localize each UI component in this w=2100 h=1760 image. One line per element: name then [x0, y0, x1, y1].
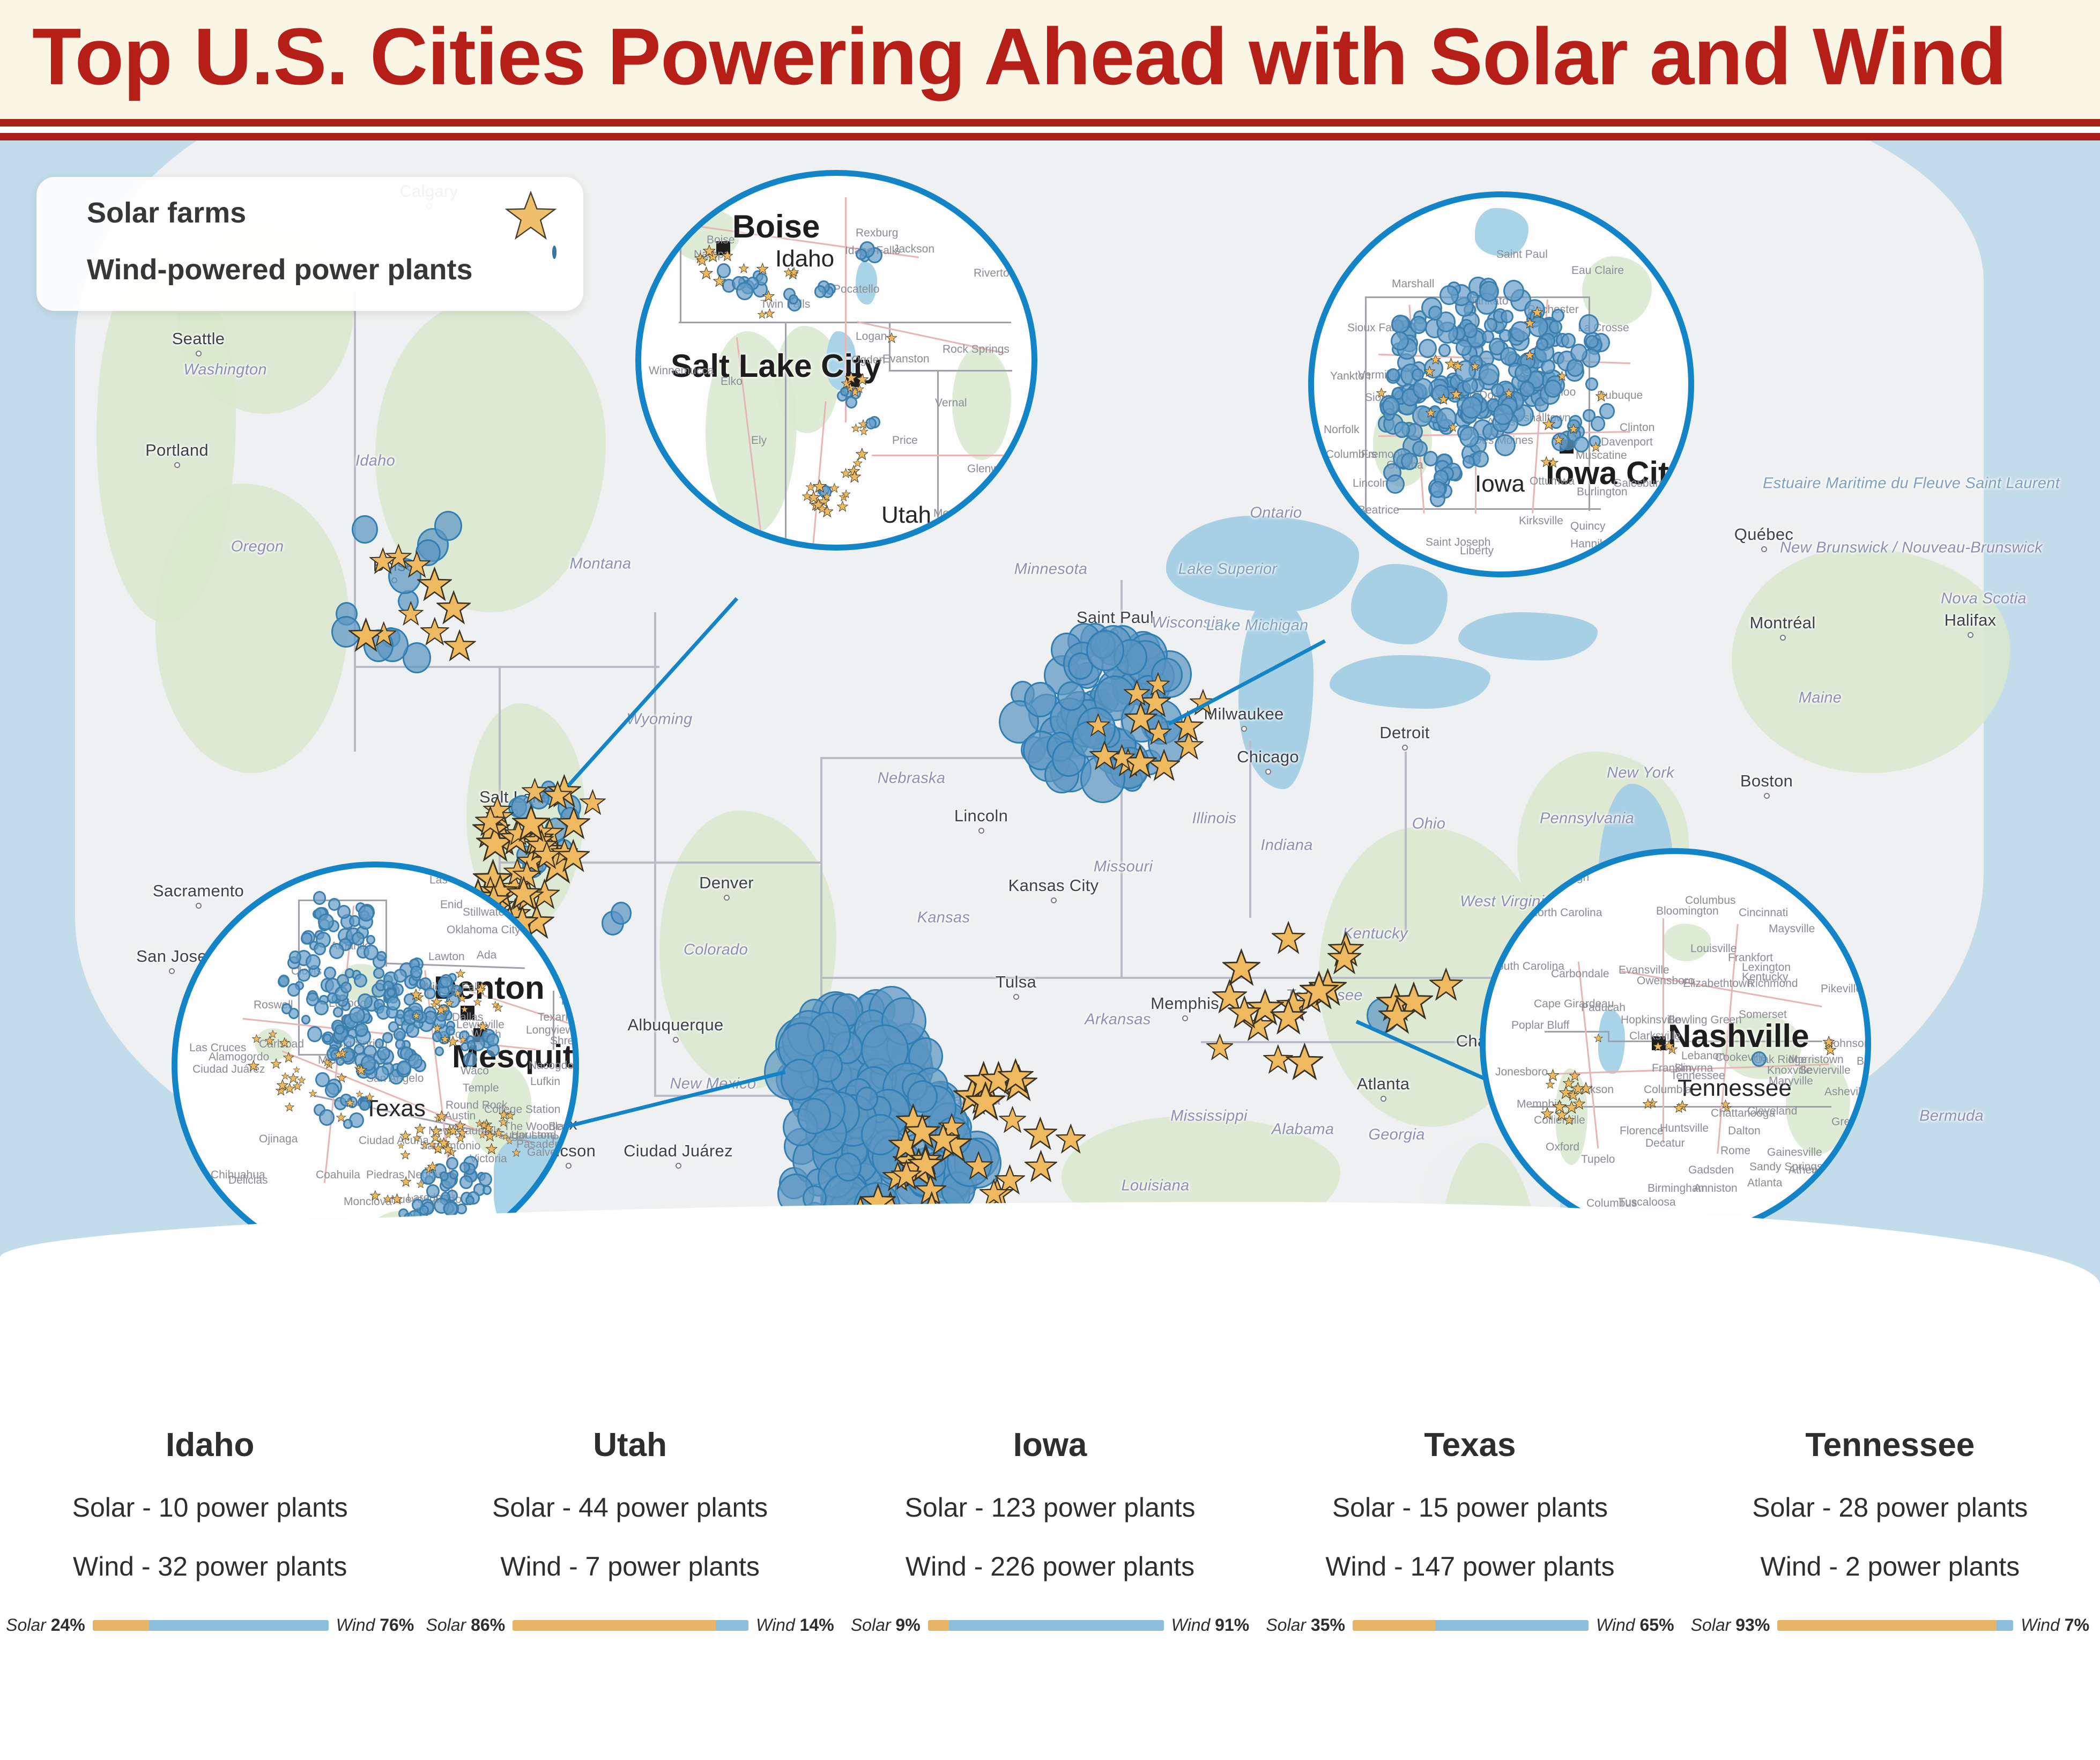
legend-label-wind: Wind-powered power plants	[87, 253, 473, 286]
solar-farm-marker	[1228, 996, 1261, 1029]
map-bottom-fade	[0, 1202, 2100, 1336]
wind-plant-marker	[845, 396, 857, 409]
solar-farm-marker	[1025, 1150, 1057, 1183]
circle-icon	[552, 248, 556, 257]
wind-plant-marker	[1410, 316, 1428, 334]
solar-farm-marker	[252, 1034, 261, 1043]
solar-farm-marker	[1424, 366, 1435, 377]
wind-plant-marker	[373, 968, 384, 979]
stat-share-bar-row: Solar 86%Wind 14%	[420, 1615, 840, 1635]
solar-farm-marker	[265, 1036, 274, 1045]
solar-farm-marker	[696, 255, 708, 266]
map-city-dot	[1968, 632, 1973, 638]
stat-wind-share-label: Wind 65%	[1596, 1615, 1674, 1635]
solar-farm-marker	[700, 266, 713, 280]
solar-farm-marker	[427, 1161, 438, 1172]
solar-farm-marker	[817, 503, 827, 514]
solar-farm-marker	[365, 1093, 374, 1102]
wind-plant-marker	[1495, 434, 1516, 456]
solar-farm-marker	[1546, 1080, 1555, 1089]
stat-column-texas: TexasSolar - 15 power plantsWind - 147 p…	[1260, 1372, 1680, 1673]
stat-share-bar-solar-segment	[513, 1620, 715, 1631]
solar-farm-marker	[557, 806, 590, 840]
map-label-city: Halifax	[1945, 611, 1997, 630]
solar-farm-marker	[398, 601, 424, 626]
map-label-city: Seattle	[172, 329, 225, 348]
solar-farm-marker	[837, 501, 848, 512]
wind-plant-marker	[319, 1109, 335, 1126]
solar-farm-marker	[298, 1076, 306, 1084]
map-label-city: Memphis	[1151, 994, 1219, 1013]
wind-plant-marker	[1544, 380, 1562, 398]
inset-marker-layer-idaho-utah	[641, 176, 1032, 545]
wind-plant-marker	[335, 1024, 344, 1035]
inset-map-idaho-utah[interactable]: Boise Idaho Salt Lake City Utah Boise Na…	[635, 170, 1037, 551]
stat-wind-line: Wind - 147 power plants	[1260, 1551, 1680, 1582]
solar-farm-marker	[1524, 317, 1535, 329]
map-city-dot	[1051, 897, 1057, 903]
map-label-state: Bermuda	[1919, 1108, 1984, 1125]
map-label-state: Arkansas	[1085, 1011, 1151, 1029]
solar-farm-marker	[369, 547, 396, 574]
wind-plant-marker	[325, 1082, 339, 1098]
map-city-dot	[1265, 769, 1271, 775]
wind-plant-marker	[1057, 681, 1085, 711]
map-label-state: Louisiana	[1122, 1177, 1190, 1195]
solar-farm-marker	[475, 984, 486, 995]
solar-farm-marker	[400, 1130, 411, 1141]
wind-plant-marker	[856, 249, 866, 260]
header-banner: Top U.S. Cities Powering Ahead with Sola…	[0, 0, 2100, 123]
wind-plant-marker	[440, 974, 452, 988]
stat-share-bar	[1777, 1620, 2013, 1631]
solar-farm-marker	[1222, 948, 1260, 986]
wind-plant-marker	[483, 1185, 492, 1195]
wind-plant-marker	[1430, 481, 1446, 498]
solar-farm-marker	[806, 482, 815, 492]
wind-plant-marker	[337, 905, 351, 919]
solar-farm-marker	[456, 969, 465, 978]
wind-plant-marker	[323, 1034, 331, 1043]
stat-share-bar-wind-segment	[716, 1620, 749, 1631]
solar-farm-marker	[848, 470, 861, 483]
stat-wind-line: Wind - 32 power plants	[0, 1551, 420, 1582]
wind-plant-marker	[1519, 381, 1534, 397]
map-city-dot	[1780, 635, 1786, 641]
wind-plant-marker	[352, 515, 378, 544]
map-label-state: Maine	[1799, 689, 1842, 707]
map-label-state: Kansas	[917, 909, 970, 927]
wind-plant-marker	[463, 1052, 477, 1067]
solar-farm-marker	[1429, 968, 1463, 1001]
solar-farm-marker	[479, 1120, 488, 1130]
solar-farm-marker	[433, 1143, 444, 1154]
stat-state-name: Idaho	[0, 1426, 420, 1464]
solar-farm-marker	[1553, 434, 1564, 445]
solar-farm-marker	[283, 1052, 294, 1063]
wind-plant-marker	[446, 1157, 458, 1170]
stat-column-iowa: IowaSolar - 123 power plantsWind - 226 p…	[840, 1372, 1260, 1673]
map-city-dot	[169, 968, 175, 974]
solar-farm-marker	[506, 1111, 515, 1120]
solar-farm-marker	[853, 458, 862, 467]
solar-farm-marker	[1653, 1041, 1663, 1051]
solar-farm-marker	[455, 1120, 466, 1131]
wind-plant-marker	[1570, 344, 1587, 362]
solar-farm-marker	[856, 373, 869, 385]
wind-plant-marker	[314, 1000, 329, 1015]
solar-farm-marker	[891, 1160, 922, 1190]
wind-plant-marker	[479, 1172, 492, 1186]
solar-farm-marker	[441, 1005, 449, 1012]
solar-farm-marker	[459, 1036, 467, 1044]
wind-plant-marker	[1583, 409, 1595, 422]
solar-farm-marker	[1270, 998, 1307, 1035]
wind-plant-marker	[814, 285, 826, 298]
map-label-city: Portland	[145, 441, 209, 460]
map-label-state: Illinois	[1192, 810, 1237, 828]
wind-plant-marker	[435, 1046, 444, 1056]
solar-farm-marker	[1541, 456, 1552, 467]
solar-farm-marker	[1643, 1098, 1653, 1109]
lake-erie	[1330, 655, 1490, 709]
wind-plant-marker	[465, 1195, 474, 1205]
map-label-state: Missouri	[1094, 858, 1153, 876]
stat-share-bar-solar-segment	[1777, 1620, 1997, 1631]
solar-farm-marker	[477, 1021, 488, 1032]
wind-plant-marker	[345, 968, 354, 978]
map-label-state: Washington	[183, 361, 267, 379]
solar-farm-marker	[1089, 740, 1119, 770]
map-label-state: Ohio	[1412, 815, 1445, 833]
solar-farm-marker	[1591, 442, 1601, 452]
solar-farm-marker	[1452, 360, 1464, 372]
solar-farm-marker	[413, 1134, 421, 1142]
stat-column-idaho: IdahoSolar - 10 power plantsWind - 32 po…	[0, 1372, 420, 1673]
solar-farm-marker	[285, 1102, 294, 1112]
stat-share-bar-row: Solar 9%Wind 91%	[840, 1615, 1260, 1635]
wind-plant-marker	[281, 1003, 292, 1014]
solar-farm-marker	[845, 372, 857, 384]
stat-solar-share-label: Solar 24%	[6, 1615, 85, 1635]
wind-plant-marker	[313, 891, 326, 904]
stat-share-bar	[1353, 1620, 1589, 1631]
wind-plant-marker	[289, 950, 301, 963]
wind-plant-marker	[1552, 309, 1564, 322]
wind-plant-marker	[1599, 403, 1614, 419]
wind-plant-marker	[1382, 397, 1400, 415]
map-label-state: Alabama	[1272, 1121, 1334, 1139]
inset-map-texas[interactable]: Denton Mesquite Texas Enid Stillwater Ok…	[172, 862, 579, 1269]
stat-share-bar-wind-segment	[1435, 1620, 1589, 1631]
wind-plant-marker	[789, 294, 798, 305]
state-border	[354, 666, 659, 668]
wind-plant-marker	[287, 983, 300, 996]
inset-marker-layer-texas	[177, 867, 573, 1263]
wind-plant-marker	[1574, 436, 1589, 452]
solar-farm-marker	[1426, 407, 1436, 418]
wind-plant-marker	[434, 511, 462, 541]
solar-farm-marker	[323, 1058, 331, 1066]
solar-farm-marker	[410, 989, 422, 1000]
solar-farm-marker	[336, 1112, 346, 1122]
solar-farm-marker	[309, 1089, 317, 1097]
map-city-dot	[673, 1037, 679, 1043]
stat-share-bar-solar-segment	[1353, 1620, 1435, 1631]
map-city-dot	[1761, 546, 1767, 552]
solar-farm-marker	[1448, 422, 1458, 432]
wind-plant-marker	[301, 1015, 310, 1024]
map-label-state: Idaho	[355, 452, 395, 470]
solar-farm-marker	[1272, 921, 1305, 954]
inset-map-iowa[interactable]: Iowa City Iowa Saint Paul Marshall Manka…	[1308, 191, 1694, 577]
stat-share-bar	[513, 1620, 748, 1631]
wind-plant-marker	[1515, 364, 1532, 382]
solar-farm-marker	[966, 1081, 1005, 1121]
stat-solar-line: Solar - 10 power plants	[0, 1492, 420, 1523]
map-label-city: Denver	[699, 873, 754, 893]
map-label-state: Nova Scotia	[1941, 590, 2027, 608]
stat-share-bar	[928, 1620, 1164, 1631]
solar-farm-marker	[1541, 1107, 1554, 1120]
wind-plant-marker	[611, 902, 632, 925]
solar-farm-marker	[412, 1012, 420, 1020]
solar-farm-marker	[492, 1001, 499, 1008]
wind-plant-marker	[942, 515, 954, 528]
solar-farm-marker	[1664, 1040, 1675, 1051]
map-city-dot	[1402, 745, 1408, 751]
solar-farm-marker	[1594, 1034, 1603, 1043]
solar-farm-marker	[506, 1138, 513, 1145]
wind-plant-marker	[278, 975, 290, 987]
wind-plant-marker	[1439, 285, 1458, 305]
wind-plant-marker	[426, 1184, 440, 1198]
solar-farm-marker	[461, 1005, 469, 1013]
map-city-dot	[196, 351, 202, 357]
solar-farm-marker	[284, 1083, 295, 1094]
lake-huron	[1351, 564, 1448, 644]
wind-plant-marker	[1752, 1051, 1767, 1067]
solar-farm-marker	[337, 1073, 347, 1083]
stat-solar-share-label: Solar 9%	[851, 1615, 921, 1635]
solar-farm-marker	[433, 1023, 442, 1033]
wind-plant-marker	[1401, 452, 1418, 470]
map-label-city: Atlanta	[1357, 1074, 1410, 1094]
stat-state-name: Tennessee	[1680, 1426, 2100, 1464]
solar-farm-marker	[855, 384, 864, 393]
solar-farm-marker	[473, 998, 482, 1006]
stat-solar-share-label: Solar 93%	[1691, 1615, 1770, 1635]
map-label-city: Montréal	[1749, 613, 1815, 633]
legend-row-solar: Solar farms	[63, 189, 562, 242]
wind-plant-marker	[459, 1175, 473, 1190]
stat-share-bar-solar-segment	[93, 1620, 150, 1631]
solar-farm-marker	[1146, 672, 1170, 696]
solar-farm-marker	[756, 263, 769, 275]
wind-plant-marker	[440, 1171, 449, 1180]
stat-column-tennessee: TennesseeSolar - 28 power plantsWind - 2…	[1680, 1372, 2100, 1673]
solar-farm-marker	[447, 1036, 459, 1048]
stat-share-bar-row: Solar 93%Wind 7%	[1680, 1615, 2100, 1635]
map-city-dot	[676, 1163, 681, 1169]
solar-farm-marker	[1286, 1043, 1324, 1081]
state-border	[820, 977, 1121, 979]
wind-plant-marker	[333, 1007, 343, 1018]
header-rule-top	[0, 119, 2100, 127]
map-label-city: Chicago	[1237, 747, 1299, 767]
wind-plant-marker	[486, 1033, 499, 1046]
solar-farm-marker	[442, 1143, 454, 1155]
wind-plant-marker	[1467, 291, 1479, 303]
map-city-dot	[724, 895, 730, 901]
map-label-state: Oregon	[231, 538, 284, 556]
solar-farm-marker	[456, 1133, 465, 1143]
map-legend: Solar farms Wind-powered power plants	[36, 177, 583, 311]
solar-farm-marker	[1023, 1117, 1057, 1150]
stat-share-bar-wind-segment	[949, 1620, 1163, 1631]
solar-farm-marker	[417, 1180, 425, 1189]
map-city-dot	[978, 828, 984, 834]
solar-farm-marker	[400, 1176, 411, 1187]
star-icon	[505, 191, 556, 243]
wind-plant-marker	[1579, 314, 1599, 335]
wind-plant-marker	[1479, 281, 1499, 302]
solar-farm-marker	[1378, 997, 1415, 1034]
wind-plant-marker	[1428, 306, 1442, 320]
solar-farm-marker	[1564, 1115, 1575, 1125]
header-rule-bottom	[0, 133, 2100, 140]
solar-farm-marker	[1674, 1103, 1684, 1113]
solar-farm-marker	[739, 263, 749, 273]
solar-farm-marker	[356, 1090, 363, 1097]
solar-farm-marker	[279, 1037, 290, 1048]
solar-farm-marker	[829, 483, 840, 493]
solar-farm-marker	[355, 1064, 367, 1076]
wind-plant-marker	[1549, 320, 1562, 334]
solar-farm-marker	[345, 1098, 355, 1108]
wind-plant-marker	[1391, 315, 1409, 333]
state-border	[1249, 741, 1251, 918]
solar-farm-marker	[431, 1125, 442, 1137]
solar-farm-marker	[1823, 1036, 1835, 1048]
stat-solar-share-label: Solar 35%	[1266, 1615, 1345, 1635]
solar-farm-marker	[762, 290, 775, 302]
wind-plant-marker	[358, 993, 372, 1008]
solar-farm-marker	[1438, 393, 1449, 405]
map-label-state: Wyoming	[627, 711, 693, 729]
map-label-state: New York	[1607, 764, 1674, 782]
inset-marker-layer-tennessee	[1486, 854, 1865, 1234]
solar-farm-marker	[1430, 354, 1441, 365]
solar-farm-marker	[1450, 388, 1462, 400]
solar-farm-marker	[758, 310, 767, 319]
stat-share-bar-row: Solar 35%Wind 65%	[1260, 1615, 1680, 1635]
stat-solar-share-label: Solar 86%	[426, 1615, 506, 1635]
map-label-state: New Brunswick / Nouveau-Brunswick	[1780, 539, 2043, 557]
wind-plant-marker	[1472, 450, 1489, 467]
solar-farm-marker	[1206, 1034, 1234, 1061]
wind-plant-marker	[387, 988, 395, 997]
solar-farm-marker	[458, 994, 466, 1002]
inset-map-tennessee[interactable]: Nashville Tennessee Raleigh Charlotte No…	[1480, 848, 1871, 1239]
solar-farm-marker	[436, 1110, 447, 1122]
wind-plant-marker	[1482, 330, 1494, 343]
wind-plant-marker	[387, 996, 400, 1011]
solar-farm-marker	[421, 1141, 428, 1149]
wind-plant-marker	[1412, 368, 1424, 381]
solar-farm-marker	[512, 804, 550, 842]
map-label-state: Mississippi	[1170, 1108, 1248, 1125]
map-label-city: Kansas City	[1008, 876, 1099, 895]
map-label-water: Estuaire Maritime du Fleuve Saint Lauren…	[1763, 475, 2060, 493]
stat-state-name: Texas	[1260, 1426, 1680, 1464]
solar-farm-marker	[248, 1060, 259, 1072]
wind-plant-marker	[1391, 331, 1409, 351]
solar-farm-marker	[1524, 350, 1535, 360]
wind-plant-marker	[1493, 404, 1513, 425]
lake-ontario	[1458, 612, 1598, 660]
state-stats-row: IdahoSolar - 10 power plantsWind - 32 po…	[0, 1372, 2100, 1673]
solar-farm-marker	[802, 491, 812, 501]
solar-farm-marker	[436, 590, 471, 625]
solar-farm-marker	[1504, 388, 1514, 398]
map-city-dot	[1764, 793, 1770, 799]
map-label-state: Georgia	[1368, 1126, 1424, 1144]
wind-plant-marker	[1503, 280, 1524, 302]
stat-share-bar-wind-segment	[149, 1620, 328, 1631]
wind-plant-marker	[1386, 474, 1404, 494]
map-label-state: Montana	[570, 555, 632, 573]
stat-share-bar-row: Solar 24%Wind 76%	[0, 1615, 420, 1635]
wind-plant-marker	[306, 954, 321, 970]
wind-plant-marker	[419, 1205, 429, 1215]
map-label-state: Nebraska	[878, 770, 946, 788]
stat-solar-line: Solar - 15 power plants	[1260, 1492, 1680, 1523]
solar-farm-marker	[842, 489, 850, 498]
solar-farm-marker	[400, 1150, 410, 1160]
solar-farm-marker	[370, 1190, 381, 1201]
wind-plant-marker	[1461, 396, 1482, 419]
wind-plant-marker	[314, 942, 326, 955]
solar-farm-marker	[348, 618, 383, 652]
stat-wind-share-label: Wind 7%	[2021, 1615, 2089, 1635]
solar-farm-marker	[722, 250, 733, 261]
stat-wind-line: Wind - 2 power plants	[1680, 1551, 2100, 1582]
solar-farm-marker	[789, 267, 799, 277]
solar-farm-marker	[288, 1073, 299, 1083]
solar-farm-marker	[391, 1193, 403, 1205]
wind-plant-marker	[382, 1032, 393, 1043]
map-label-state: Pennsylvania	[1540, 810, 1634, 828]
state-border	[1405, 752, 1407, 934]
wind-plant-marker	[797, 1098, 831, 1135]
wind-plant-marker	[324, 967, 336, 979]
wind-plant-marker	[1086, 630, 1124, 671]
solar-farm-marker	[1056, 1124, 1086, 1154]
map-city-dot	[1182, 1015, 1188, 1021]
solar-farm-marker	[475, 806, 506, 836]
solar-farm-marker	[445, 1132, 452, 1139]
wind-plant-marker	[301, 932, 312, 944]
wind-plant-marker	[340, 982, 352, 993]
solar-farm-marker	[1531, 306, 1543, 318]
map-label-water: Lake Superior	[1178, 561, 1277, 578]
wind-plant-marker	[307, 1026, 322, 1042]
map-canvas[interactable]: CalgarySeattleWashingtonPortlandOregonId…	[0, 140, 2100, 1336]
stat-state-name: Iowa	[840, 1426, 1260, 1464]
solar-farm-marker	[1376, 388, 1386, 398]
wind-plant-marker	[329, 943, 345, 959]
